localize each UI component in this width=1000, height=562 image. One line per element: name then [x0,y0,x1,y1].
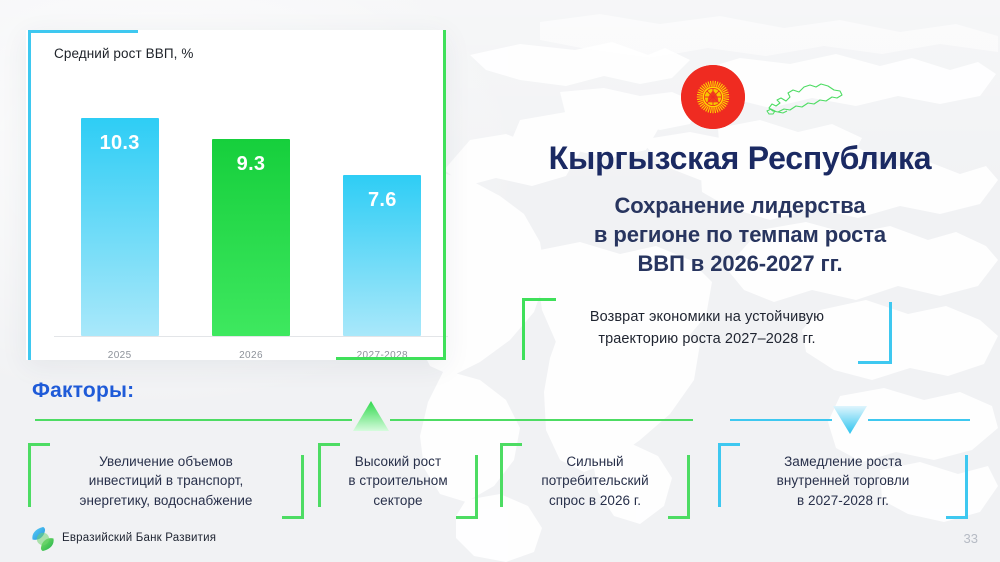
page-number: 33 [964,531,978,546]
factor-card-line: в строительном [348,471,447,490]
factor-card-1[interactable]: Увеличение объемовинвестиций в транспорт… [28,443,304,519]
callout-bracket-top-left-h [522,298,556,301]
factor-card-text: Замедление роставнутренней торговлив 202… [718,443,968,519]
callout-text: Возврат экономики на устойчивую траектор… [522,306,892,351]
chart-bracket-bottom [336,357,446,360]
factor-card-line: секторе [348,491,447,510]
subtitle-line: ВВП в 2026-2027 гг. [490,249,990,278]
factors-rule-cyan-left [730,419,832,421]
subtitle-line: в регионе по темпам роста [490,220,990,249]
chart-bracket-top [28,30,138,33]
edb-logo-icon [30,526,56,552]
page-subtitle: Сохранение лидерства в регионе по темпам… [490,191,990,278]
chart-bracket-right [443,30,446,360]
factor-card-2[interactable]: Высокий роств строительномсекторе [318,443,478,519]
factors-rule-green-left [35,419,352,421]
subtitle-line: Сохранение лидерства [490,191,990,220]
logo-text: Евразийский Банк Развития [62,532,216,544]
factor-card-3[interactable]: Сильныйпотребительскийспрос в 2026 г. [500,443,690,519]
factor-card-line: Высокий рост [348,452,447,471]
chart-axis-line [54,336,448,337]
factors-rule-cyan-right [868,419,970,421]
bar-value-label: 7.6 [343,189,421,212]
factor-card-line: энергетику, водоснабжение [80,491,253,510]
factor-card-line: Увеличение объемов [80,452,253,471]
callout-bracket-bottom-right-h [858,361,892,364]
factor-card-line: Сильный [541,452,648,471]
callout-box: Возврат экономики на устойчивую траектор… [522,298,892,364]
factor-card-line: потребительский [541,471,648,490]
factor-card-text: Высокий роств строительномсекторе [318,443,478,519]
bar-value-label: 9.3 [212,153,290,176]
callout-line: траекторию роста 2027–2028 гг. [522,328,892,350]
factor-card-line: Замедление роста [777,452,910,471]
factors-rule-green-right [390,419,693,421]
factor-card-4[interactable]: Замедление роставнутренней торговлив 202… [718,443,968,519]
chart-title: Средний рост ВВП, % [54,46,193,61]
factor-card-line: инвестиций в транспорт, [80,471,253,490]
kyrgyzstan-flag-icon [681,65,745,129]
kyrgyzstan-map-outline-icon [762,78,844,120]
bar-category-label: 2025 [54,350,185,361]
factor-card-line: внутренней торговли [777,471,910,490]
factor-card-line: в 2027-2028 гг. [777,491,910,510]
callout-bracket-top-left-v [522,298,525,360]
bar-value-label: 10.3 [81,132,159,155]
bar-chart-plot-area: 10.320259.320267.62027-2028 [26,30,446,360]
chart-bracket-left [28,30,31,360]
up-triangle-icon [352,400,390,432]
bar-category-label: 2026 [185,350,316,361]
callout-line: Возврат экономики на устойчивую [522,306,892,328]
factors-heading: Факторы: [32,379,134,403]
down-triangle-icon [832,405,868,435]
callout-bracket-bottom-right-v [889,302,892,364]
page-title: Кыргызская Республика [490,140,990,177]
factor-card-line: спрос в 2026 г. [541,491,648,510]
factor-card-text: Сильныйпотребительскийспрос в 2026 г. [500,443,690,519]
factor-card-text: Увеличение объемовинвестиций в транспорт… [28,443,304,519]
